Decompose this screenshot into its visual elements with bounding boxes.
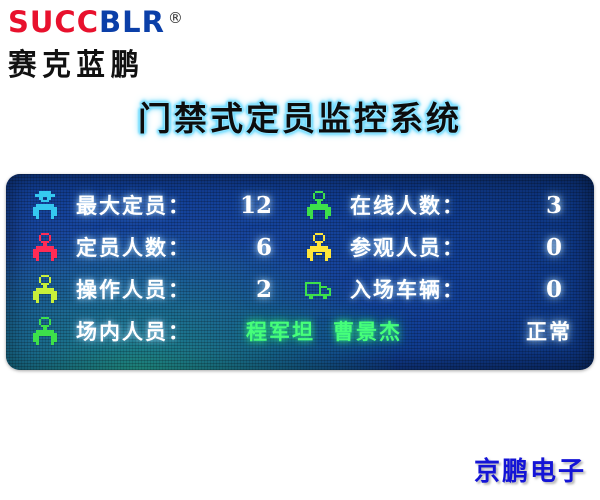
status-badge: 正常 bbox=[526, 316, 594, 346]
person-online-icon bbox=[302, 189, 336, 221]
stat-value: 0 bbox=[520, 234, 584, 261]
logo-chinese-name: 赛克蓝鹏 bbox=[8, 40, 208, 84]
onsite-label: 场内人员： bbox=[62, 316, 236, 346]
company-logo: SUCCBLR® 赛克蓝鹏 bbox=[8, 6, 218, 76]
stat-vehicle-count: 入场车辆： 0 bbox=[294, 268, 584, 310]
stat-operator-count: 操作人员： 2 bbox=[6, 268, 294, 310]
logo-wordmark-part2: BLR bbox=[99, 5, 165, 39]
table-row: 操作人员： 2 入场车辆： bbox=[6, 268, 594, 310]
logo-wordmark: SUCCBLR® bbox=[8, 6, 218, 38]
onsite-name-list: 程军坦曹景杰 bbox=[236, 316, 526, 346]
person-onsite-icon bbox=[28, 315, 62, 347]
led-display-panel: 最大定员： 12 bbox=[6, 174, 594, 370]
stat-value: 6 bbox=[230, 234, 294, 261]
stat-label: 最大定员： bbox=[62, 190, 230, 220]
stat-label: 定员人数： bbox=[62, 232, 230, 262]
truck-icon bbox=[302, 273, 336, 305]
stat-max-capacity: 最大定员： 12 bbox=[6, 184, 294, 226]
stat-onsite-personnel: 场内人员： bbox=[6, 310, 236, 352]
stat-visitor-count: 参观人员： 0 bbox=[294, 226, 584, 268]
stat-value: 2 bbox=[230, 276, 294, 303]
stat-value: 0 bbox=[520, 276, 584, 303]
table-row: 最大定员： 12 bbox=[6, 184, 594, 226]
logo-wordmark-part1: SUCC bbox=[8, 5, 99, 39]
table-row-onsite: 场内人员： 程军坦曹景杰 正常 bbox=[6, 310, 594, 352]
stat-value: 12 bbox=[230, 192, 294, 219]
person-operator-icon bbox=[28, 273, 62, 305]
person-visitor-icon bbox=[302, 231, 336, 263]
stat-label: 在线人数： bbox=[336, 190, 520, 220]
stat-quota-count: 定员人数： 6 bbox=[6, 226, 294, 268]
page-title: 门禁式定员监控系统 bbox=[0, 92, 600, 140]
registered-trademark-icon: ® bbox=[168, 2, 184, 34]
stat-label: 操作人员： bbox=[62, 274, 230, 304]
stat-online-count: 在线人数： 3 bbox=[294, 184, 584, 226]
stat-label: 入场车辆： bbox=[336, 274, 520, 304]
person-helmet-icon bbox=[28, 189, 62, 221]
footer-company-name: 京鹏电子 bbox=[474, 451, 586, 488]
table-row: 定员人数： 6 bbox=[6, 226, 594, 268]
person-quota-icon bbox=[28, 231, 62, 263]
panel-rows: 最大定员： 12 bbox=[6, 174, 594, 352]
list-item: 曹景杰 bbox=[333, 320, 402, 344]
stat-value: 3 bbox=[520, 192, 584, 219]
stat-label: 参观人员： bbox=[336, 232, 520, 262]
list-item: 程军坦 bbox=[246, 320, 315, 344]
